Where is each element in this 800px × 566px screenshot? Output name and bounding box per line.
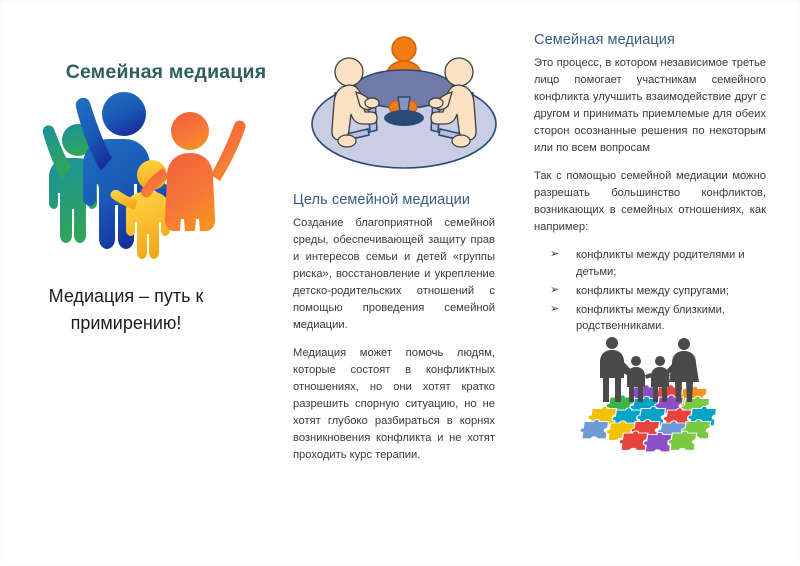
- right-paragraph-2: Так с помощью семейной медиации можно ра…: [534, 168, 766, 236]
- right-paragraph-1: Это процесс, в котором независимое треть…: [534, 55, 766, 157]
- conflict-types-list: ➢ конфликты между родителями и детьми; ➢…: [534, 247, 766, 335]
- middle-paragraph-2: Медиация может помочь людям, которые сос…: [293, 345, 495, 464]
- family-figures-logo: [29, 83, 261, 263]
- list-item: ➢ конфликты между родителями и детьми;: [548, 247, 766, 281]
- brochure-page: Семейная медиация: [0, 0, 800, 566]
- tagline: Медиация – путь к примирению!: [1, 283, 251, 337]
- arrow-bullet-icon: ➢: [550, 301, 559, 318]
- middle-paragraph-1: Создание благоприятной семейной среды, о…: [293, 215, 495, 334]
- family-puzzle-illustration: [573, 331, 721, 447]
- list-item: ➢ конфликты между супругами;: [548, 283, 766, 300]
- list-item-label: конфликты между близкими, родственниками…: [576, 304, 725, 333]
- arrow-bullet-icon: ➢: [550, 282, 559, 299]
- middle-panel-heading: Цель семейной медиации: [293, 191, 495, 209]
- right-panel-heading: Семейная медиация: [534, 31, 766, 49]
- list-item-label: конфликты между родителями и детьми;: [576, 249, 745, 278]
- left-panel: Семейная медиация: [41, 61, 291, 84]
- mediation-table-illustration: [309, 27, 499, 177]
- list-item-label: конфликты между супругами;: [576, 285, 729, 297]
- arrow-bullet-icon: ➢: [550, 246, 559, 263]
- right-panel: Семейная медиация Это процесс, в котором…: [534, 31, 766, 337]
- brochure-title: Семейная медиация: [41, 61, 291, 84]
- middle-panel: Цель семейной медиации Создание благопри…: [293, 191, 495, 464]
